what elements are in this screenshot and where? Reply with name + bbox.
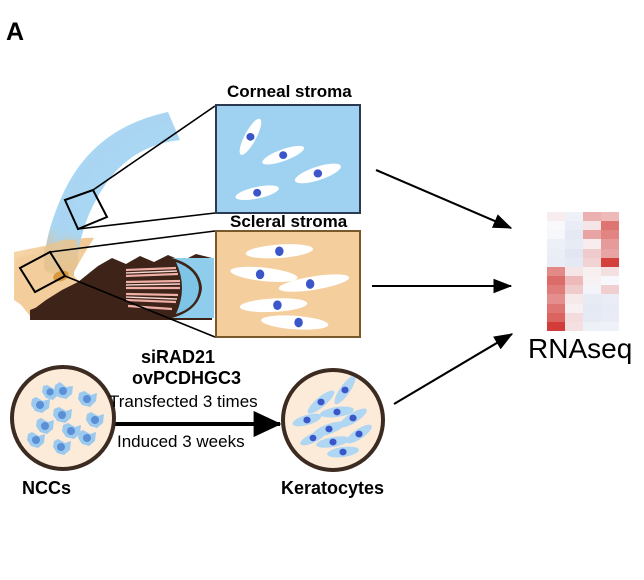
heatmap-cell	[547, 313, 565, 322]
heatmap-cell	[601, 258, 619, 267]
scleral-stroma-label: Scleral stroma	[230, 212, 347, 232]
keratocyte-cell	[234, 182, 280, 203]
scleral-stroma-cells	[217, 232, 359, 336]
heatmap-cell	[583, 313, 601, 322]
heatmap-cell	[565, 221, 583, 230]
ncc-cell	[86, 412, 104, 428]
keratocyte-cell	[260, 142, 306, 168]
induced-label: Induced 3 weeks	[117, 432, 245, 452]
heatmap-cell	[601, 313, 619, 322]
heatmap-cell	[583, 267, 601, 276]
heatmap-cell	[565, 258, 583, 267]
heatmap-cell	[547, 212, 565, 221]
heatmap-cell	[547, 276, 565, 285]
heatmap-cell	[601, 294, 619, 303]
nccs-dish	[10, 365, 116, 471]
heatmap-cell	[565, 239, 583, 248]
heatmap-cell	[565, 322, 583, 331]
ncc-cell	[53, 407, 72, 423]
heatmap-cell	[565, 249, 583, 258]
transfected-label: Transfected 3 times	[109, 392, 258, 412]
heatmap-cell	[601, 276, 619, 285]
heatmap-cell	[583, 276, 601, 285]
keratocyte-cell	[331, 373, 359, 407]
heatmap-cell	[583, 294, 601, 303]
nccs-label: NCCs	[22, 478, 71, 499]
ncc-cell	[78, 430, 96, 446]
heatmap-cell	[583, 239, 601, 248]
figure-panel-a: A	[0, 0, 644, 580]
heatmap-cell	[583, 221, 601, 230]
keratocyte-cell	[236, 116, 265, 157]
arrow-kerato-to-rnaseq	[394, 334, 512, 404]
scleral-fibroblast-cell	[230, 264, 298, 284]
sirad21-label: siRAD21	[141, 347, 215, 368]
corneal-stroma-cells	[217, 106, 359, 212]
rnaseq-heatmap	[547, 212, 619, 331]
heatmap-cell	[583, 212, 601, 221]
heatmap-cell	[583, 285, 601, 294]
heatmap-cell	[601, 230, 619, 239]
heatmap-cell	[547, 230, 565, 239]
ncc-cell	[36, 418, 54, 434]
heatmap-cell	[547, 294, 565, 303]
rnaseq-label: RNAseq	[528, 333, 632, 365]
heatmap-cell	[583, 322, 601, 331]
nccs-cells	[14, 369, 112, 467]
heatmap-cell	[547, 239, 565, 248]
heatmap-cell	[547, 267, 565, 276]
heatmap-cell	[565, 313, 583, 322]
heatmap-cell	[565, 230, 583, 239]
heatmap-cell	[565, 212, 583, 221]
heatmap-cell	[583, 304, 601, 313]
keratocyte-cells	[285, 372, 381, 468]
keratocyte-cell	[291, 411, 323, 429]
heatmap-cell	[601, 322, 619, 331]
heatmap-cell	[601, 221, 619, 230]
keratocytes-label: Keratocytes	[281, 478, 384, 499]
ncc-cell	[27, 432, 45, 448]
heatmap-cell	[601, 249, 619, 258]
scleral-fibroblast-cell	[261, 313, 329, 331]
heatmap-cell	[601, 212, 619, 221]
heatmap-cell	[565, 285, 583, 294]
scleral-stroma-panel	[215, 230, 361, 338]
corneal-stroma-label: Corneal stroma	[227, 82, 352, 102]
heatmap-cell	[601, 267, 619, 276]
ovpcdhgc3-label: ovPCDHGC3	[132, 368, 241, 389]
ncc-cell	[78, 391, 97, 407]
heatmap-cell	[583, 230, 601, 239]
heatmap-cell	[583, 249, 601, 258]
heatmap-cell	[547, 304, 565, 313]
heatmap-cell	[565, 294, 583, 303]
corneal-stroma-panel	[215, 104, 361, 214]
keratocytes-dish	[281, 368, 385, 472]
heatmap-cell	[601, 285, 619, 294]
keratocyte-cell	[293, 160, 343, 188]
scleral-fibroblast-cell	[245, 242, 313, 260]
heatmap-cell	[547, 249, 565, 258]
arrow-cornea-to-rnaseq	[376, 170, 511, 228]
ncc-cell	[31, 397, 50, 413]
heatmap-cell	[601, 239, 619, 248]
heatmap-cell	[547, 221, 565, 230]
heatmap-cell	[583, 258, 601, 267]
heatmap-cell	[565, 276, 583, 285]
heatmap-cell	[547, 322, 565, 331]
heatmap-cell	[601, 304, 619, 313]
ncc-cell	[62, 423, 81, 439]
ncc-cell	[53, 439, 71, 455]
heatmap-cell	[565, 267, 583, 276]
heatmap-cell	[547, 258, 565, 267]
heatmap-cell	[565, 304, 583, 313]
heatmap-cell	[547, 285, 565, 294]
scleral-fibroblast-cell	[240, 297, 308, 314]
